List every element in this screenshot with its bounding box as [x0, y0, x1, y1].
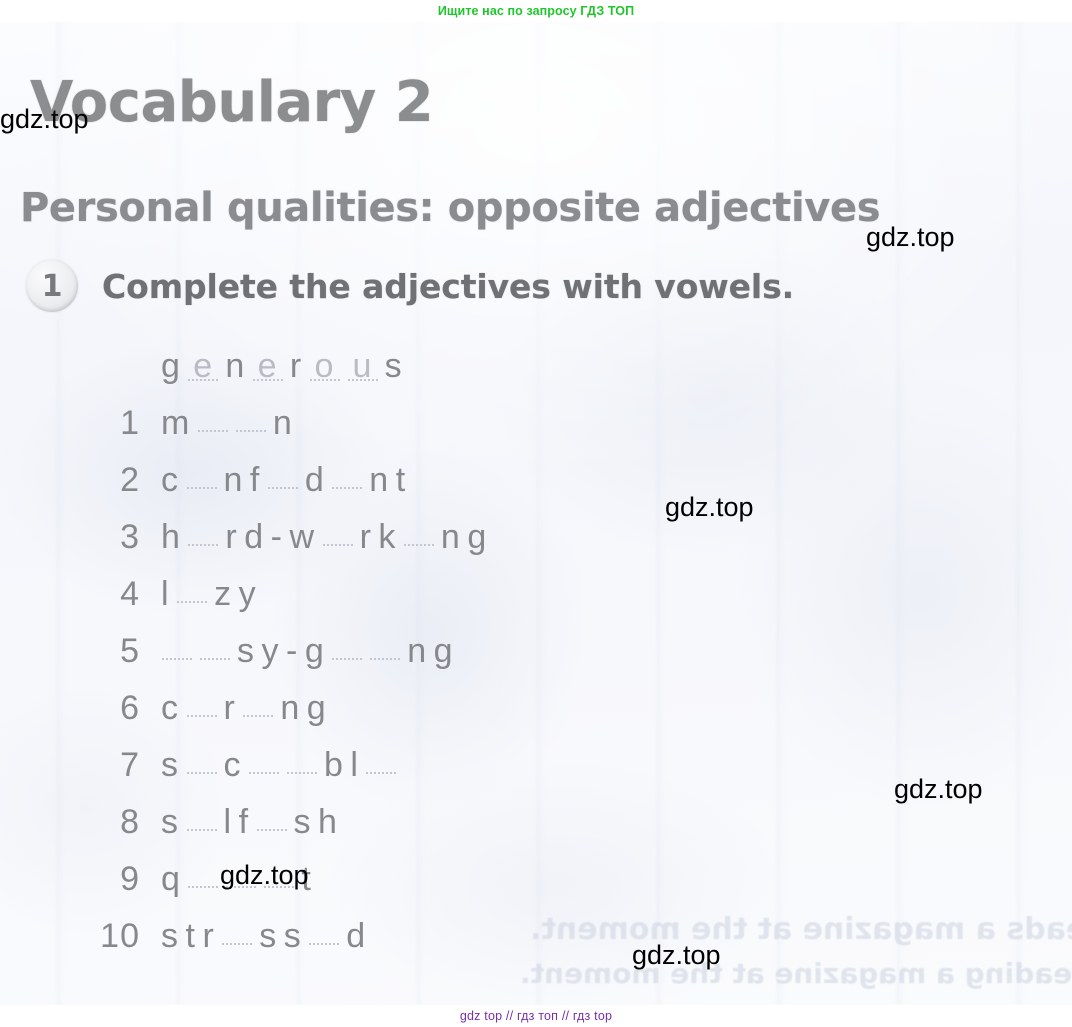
gdz-watermark: gdz.top	[0, 104, 89, 135]
word-letter: c	[158, 689, 183, 728]
word-row: generous	[86, 347, 491, 404]
gdz-watermark: gdz.top	[632, 940, 721, 971]
word-letter: n	[404, 632, 430, 671]
word-letter: r	[287, 347, 306, 386]
word-letter: m	[158, 404, 194, 443]
vowel-blank-filled[interactable]: o	[308, 349, 342, 383]
vowel-answer: o	[308, 349, 342, 383]
vowel-blank-filled[interactable]: e	[251, 349, 285, 383]
word-letters: hrd-wrkng	[158, 518, 491, 557]
word-row: 7scbl	[86, 746, 491, 803]
word-letter: n	[366, 461, 392, 500]
word-letter: f	[247, 461, 264, 500]
word-letter: h	[158, 518, 184, 557]
word-row: 4lzy	[86, 575, 491, 632]
gdz-watermark: gdz.top	[894, 774, 983, 805]
word-letter: l	[158, 575, 173, 614]
word-letter: t	[183, 917, 200, 956]
word-letter: g	[158, 347, 184, 386]
word-row-index: 5	[86, 632, 158, 671]
word-row: 5sy-gng	[86, 632, 491, 689]
footer-links: gdz top // гдз топ // гдз top	[0, 1005, 1072, 1027]
gdz-watermark: gdz.top	[220, 860, 309, 891]
word-row-index: 7	[86, 746, 158, 785]
page-subtitle: Personal qualities: opposite adjectives	[20, 185, 880, 231]
word-letter: c	[158, 461, 183, 500]
word-row-index: 3	[86, 518, 158, 557]
word-letter: s	[256, 917, 281, 956]
word-letter: -	[283, 632, 302, 671]
page-title: Vocabulary 2	[30, 70, 433, 135]
word-row-index: 4	[86, 575, 158, 614]
vowel-answer: e	[186, 349, 220, 383]
word-letter: w	[287, 518, 319, 557]
word-letter: r	[221, 689, 240, 728]
word-letter: d	[302, 461, 328, 500]
scanned-page: Oscar reads a magazine at the moment. Os…	[0, 22, 1072, 1005]
word-letter: q	[158, 860, 184, 899]
word-letter: s	[158, 803, 183, 842]
word-letter: s	[291, 803, 316, 842]
word-row-index: 8	[86, 803, 158, 842]
exercise-number-badge: 1	[26, 260, 78, 312]
word-letter: l	[221, 803, 236, 842]
word-letter: d	[241, 518, 267, 557]
word-letter: s	[382, 347, 407, 386]
promo-banner-text: Ищите нас по запросу ГДЗ ТОП	[438, 4, 634, 18]
word-letter: k	[375, 518, 400, 557]
word-letter: h	[315, 803, 341, 842]
word-letters: sy-gng	[158, 632, 457, 671]
word-row: 6crng	[86, 689, 491, 746]
word-letters: scbl	[158, 746, 400, 785]
word-row-index: 9	[86, 860, 158, 899]
word-letter: y	[236, 575, 261, 614]
word-letter: n	[222, 347, 248, 386]
word-letters: cnfdnt	[158, 461, 410, 500]
word-row: 2cnfdnt	[86, 461, 491, 518]
word-letter: y	[259, 632, 284, 671]
word-row: 1mn	[86, 404, 491, 461]
word-letter: f	[236, 803, 253, 842]
word-letter: z	[211, 575, 236, 614]
word-letter: s	[281, 917, 306, 956]
word-letter: -	[268, 518, 287, 557]
word-letter: r	[199, 917, 218, 956]
word-letter: b	[321, 746, 347, 785]
word-letter: s	[158, 917, 183, 956]
exercise-header: 1 Complete the adjectives with vowels.	[26, 260, 794, 312]
word-row-index: 6	[86, 689, 158, 728]
vowel-answer: e	[251, 349, 285, 383]
footer-text: gdz top // гдз топ // гдз top	[460, 1009, 612, 1023]
word-letters: mn	[158, 404, 296, 443]
word-letter: s	[158, 746, 183, 785]
gdz-watermark: gdz.top	[866, 222, 955, 253]
word-row-index: 10	[86, 917, 158, 956]
word-row-index: 2	[86, 461, 158, 500]
word-letter: g	[464, 518, 490, 557]
word-letters: crng	[158, 689, 330, 728]
word-letter: g	[304, 689, 330, 728]
word-row: 3hrd-wrkng	[86, 518, 491, 575]
exercise-instruction: Complete the adjectives with vowels.	[102, 267, 794, 306]
word-letter: n	[270, 404, 296, 443]
word-row: 8slfsh	[86, 803, 491, 860]
word-letters: lzy	[158, 575, 260, 614]
word-letter: r	[222, 518, 241, 557]
bleed-through-line-2: Oscar is reading a magazine at the momen…	[520, 957, 1072, 990]
word-letters: generous	[158, 347, 406, 386]
word-letter: g	[302, 632, 328, 671]
word-letter: r	[357, 518, 376, 557]
word-letter: d	[343, 917, 369, 956]
word-letter: s	[234, 632, 259, 671]
vowel-blank-filled[interactable]: u	[346, 349, 380, 383]
bleed-through-line-1: Oscar reads a magazine at the moment.	[530, 912, 1072, 947]
promo-banner: Ищите нас по запросу ГДЗ ТОП	[0, 0, 1072, 22]
word-letter: n	[277, 689, 303, 728]
word-row-index: 1	[86, 404, 158, 443]
word-row: 10strssd	[86, 917, 491, 974]
word-letter: g	[431, 632, 457, 671]
word-letter: t	[393, 461, 410, 500]
word-letters: slfsh	[158, 803, 341, 842]
word-letter: n	[221, 461, 247, 500]
word-letter: c	[221, 746, 246, 785]
word-letter: l	[347, 746, 362, 785]
vowel-answer: u	[346, 349, 380, 383]
word-letters: strssd	[158, 917, 370, 956]
word-letter: n	[438, 518, 464, 557]
vowel-blank-filled[interactable]: e	[186, 349, 220, 383]
gdz-watermark: gdz.top	[665, 492, 754, 523]
